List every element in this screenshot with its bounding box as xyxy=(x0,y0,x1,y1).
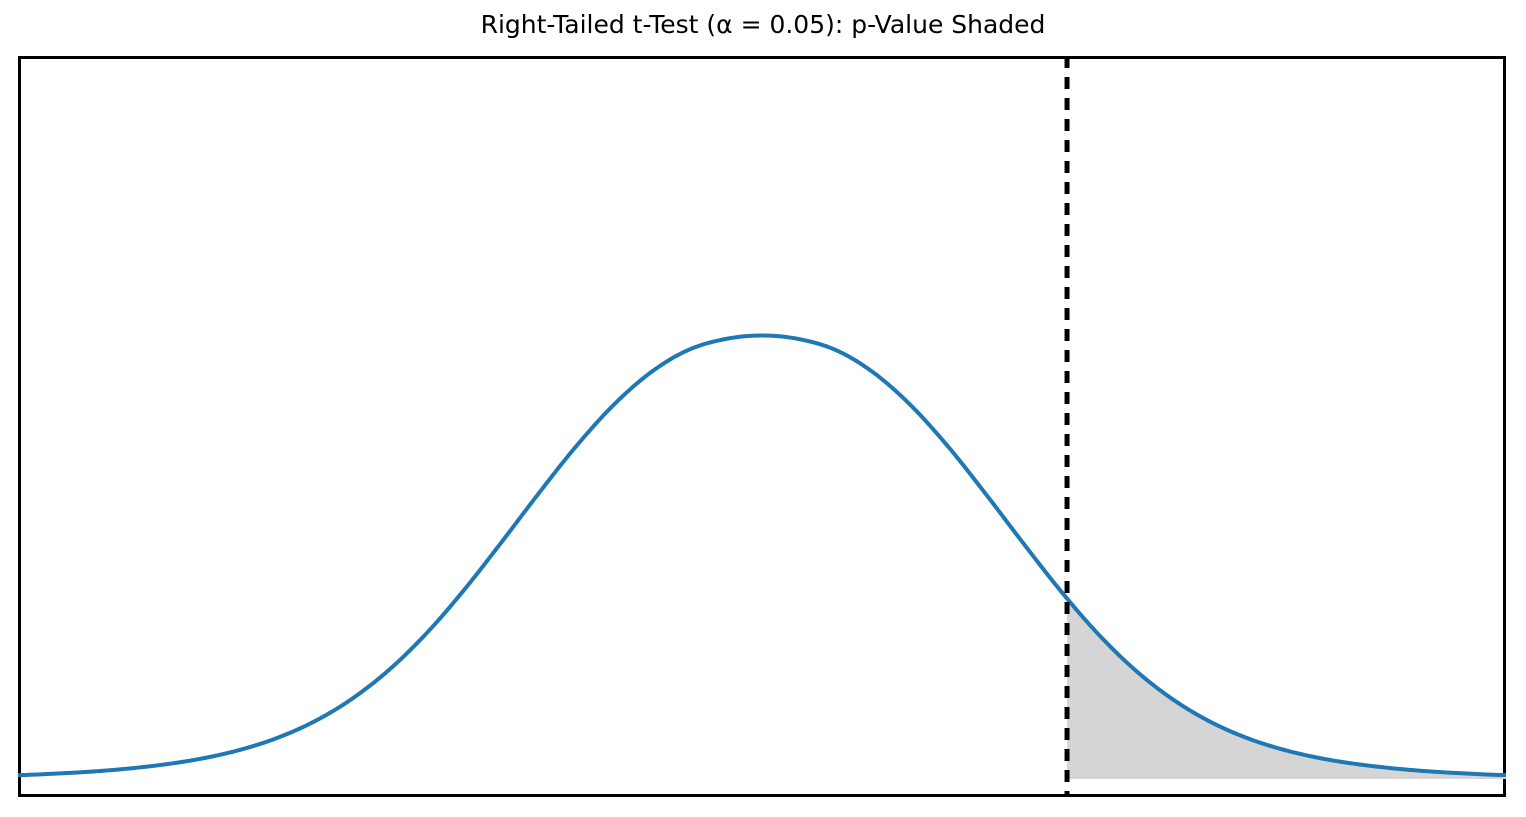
chart-title: Right-Tailed t-Test (α = 0.05): p-Value … xyxy=(0,9,1526,41)
t-distribution-curve xyxy=(18,336,1506,776)
plot-area xyxy=(18,56,1506,797)
curve-group xyxy=(18,336,1506,776)
figure-canvas: Right-Tailed t-Test (α = 0.05): p-Value … xyxy=(0,0,1526,817)
